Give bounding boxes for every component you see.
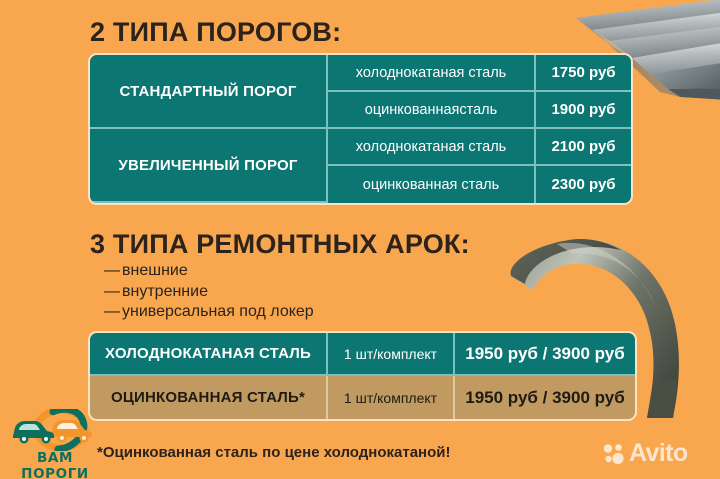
list-item: —внешние — [104, 261, 314, 282]
sill-price: 1750 руб — [536, 55, 631, 92]
table-row: ХОЛОДНОКАТАНАЯ СТАЛЬ 1 шт/комплект 1950 … — [90, 333, 635, 376]
avito-watermark: Avito — [603, 441, 688, 466]
arch-price: 1950 руб / 3900 руб — [455, 333, 635, 376]
dash-bullet-icon: — — [104, 261, 122, 282]
sill-material: холоднокатаная сталь — [328, 129, 536, 166]
sill-type-name: УВЕЛИЧЕННЫЙ ПОРОГ — [90, 129, 328, 203]
avito-wordmark: Avito — [629, 441, 688, 466]
table-row: УВЕЛИЧЕННЫЙ ПОРОГ холоднокатаная сталь 2… — [90, 129, 631, 166]
arch-type-label: внешние — [122, 262, 188, 279]
arch-type-label: внутренние — [122, 283, 208, 300]
table-row: СТАНДАРТНЫЙ ПОРОГ холоднокатаная сталь 1… — [90, 55, 631, 92]
dash-bullet-icon: — — [104, 302, 122, 323]
arch-quantity: 1 шт/комплект — [328, 333, 455, 376]
car-in-ring-icon — [5, 409, 105, 451]
sill-type-name: СТАНДАРТНЫЙ ПОРОГ — [90, 55, 328, 129]
arch-quantity: 1 шт/комплект — [328, 376, 455, 419]
list-item: —внутренние — [104, 282, 314, 303]
promo-poster: 2 ТИПА ПОРОГОВ: СТАНДАРТНЫЙ ПОРОГ холодн… — [0, 0, 720, 479]
arches-price-table: ХОЛОДНОКАТАНАЯ СТАЛЬ 1 шт/комплект 1950 … — [90, 333, 635, 419]
list-item: —универсальная под локер — [104, 302, 314, 323]
brand-logo: ВАМ ПОРОГИ — [5, 409, 105, 471]
sill-material: оцинкованная сталь — [328, 166, 536, 203]
footnote-text: *Оцинкованная сталь по цене холоднокатан… — [97, 444, 450, 461]
sill-material: холоднокатаная сталь — [328, 55, 536, 92]
arch-type-label: универсальная под локер — [122, 303, 314, 320]
arch-types-list: —внешние —внутренние —универсальная под … — [104, 261, 314, 323]
sill-price: 2300 руб — [536, 166, 631, 203]
arch-material: ХОЛОДНОКАТАНАЯ СТАЛЬ — [90, 333, 328, 376]
sills-price-table: СТАНДАРТНЫЙ ПОРОГ холоднокатаная сталь 1… — [90, 55, 631, 203]
sill-material: оцинкованнаясталь — [328, 92, 536, 129]
avito-dots-icon — [603, 443, 625, 465]
arches-section-heading: 3 ТИПА РЕМОНТНЫХ АРОК: — [90, 229, 470, 260]
sill-price: 2100 руб — [536, 129, 631, 166]
sills-section-heading: 2 ТИПА ПОРОГОВ: — [90, 17, 341, 48]
arch-material: ОЦИНКОВАННАЯ СТАЛЬ* — [90, 376, 328, 419]
dash-bullet-icon: — — [104, 282, 122, 303]
table-row: ОЦИНКОВАННАЯ СТАЛЬ* 1 шт/комплект 1950 р… — [90, 376, 635, 419]
sill-price: 1900 руб — [536, 92, 631, 129]
brand-name: ВАМ ПОРОГИ — [5, 450, 105, 479]
arch-price: 1950 руб / 3900 руб — [455, 376, 635, 419]
